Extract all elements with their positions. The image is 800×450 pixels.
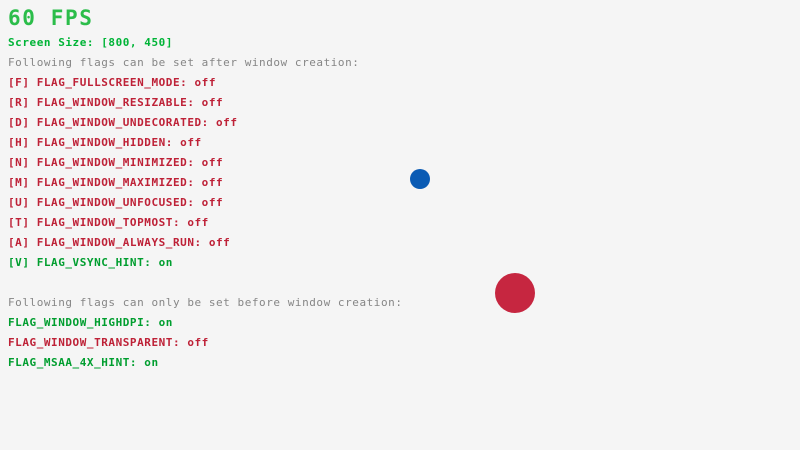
blue-ball-shape bbox=[410, 169, 430, 189]
flag-line-flag-window-maximized[interactable]: [M] FLAG_WINDOW_MAXIMIZED: off bbox=[8, 176, 223, 190]
flag-line-flag-window-resizable[interactable]: [R] FLAG_WINDOW_RESIZABLE: off bbox=[8, 96, 223, 110]
after-creation-note: Following flags can be set after window … bbox=[8, 56, 359, 70]
flag-line-flag-window-undecorated[interactable]: [D] FLAG_WINDOW_UNDECORATED: off bbox=[8, 116, 238, 130]
flag-line-flag-window-always-run[interactable]: [A] FLAG_WINDOW_ALWAYS_RUN: off bbox=[8, 236, 230, 250]
fps-counter: 60 FPS bbox=[8, 6, 93, 30]
red-ball-shape bbox=[495, 273, 535, 313]
flag-line-flag-msaa-4x-hint[interactable]: FLAG_MSAA_4X_HINT: on bbox=[8, 356, 159, 370]
flag-line-flag-window-minimized[interactable]: [N] FLAG_WINDOW_MINIMIZED: off bbox=[8, 156, 223, 170]
flag-line-flag-window-transparent[interactable]: FLAG_WINDOW_TRANSPARENT: off bbox=[8, 336, 209, 350]
before-creation-note: Following flags can only be set before w… bbox=[8, 296, 403, 310]
raylib-window-canvas[interactable]: 60 FPS Screen Size: [800, 450] Following… bbox=[0, 0, 800, 450]
flag-line-flag-fullscreen-mode[interactable]: [F] FLAG_FULLSCREEN_MODE: off bbox=[8, 76, 216, 90]
flag-line-flag-window-hidden[interactable]: [H] FLAG_WINDOW_HIDDEN: off bbox=[8, 136, 202, 150]
flag-line-flag-window-unfocused[interactable]: [U] FLAG_WINDOW_UNFOCUSED: off bbox=[8, 196, 223, 210]
flag-line-flag-vsync-hint[interactable]: [V] FLAG_VSYNC_HINT: on bbox=[8, 256, 173, 270]
flag-line-flag-window-topmost[interactable]: [T] FLAG_WINDOW_TOPMOST: off bbox=[8, 216, 209, 230]
screen-size-label: Screen Size: [800, 450] bbox=[8, 36, 173, 50]
flag-line-flag-window-highdpi[interactable]: FLAG_WINDOW_HIGHDPI: on bbox=[8, 316, 173, 330]
